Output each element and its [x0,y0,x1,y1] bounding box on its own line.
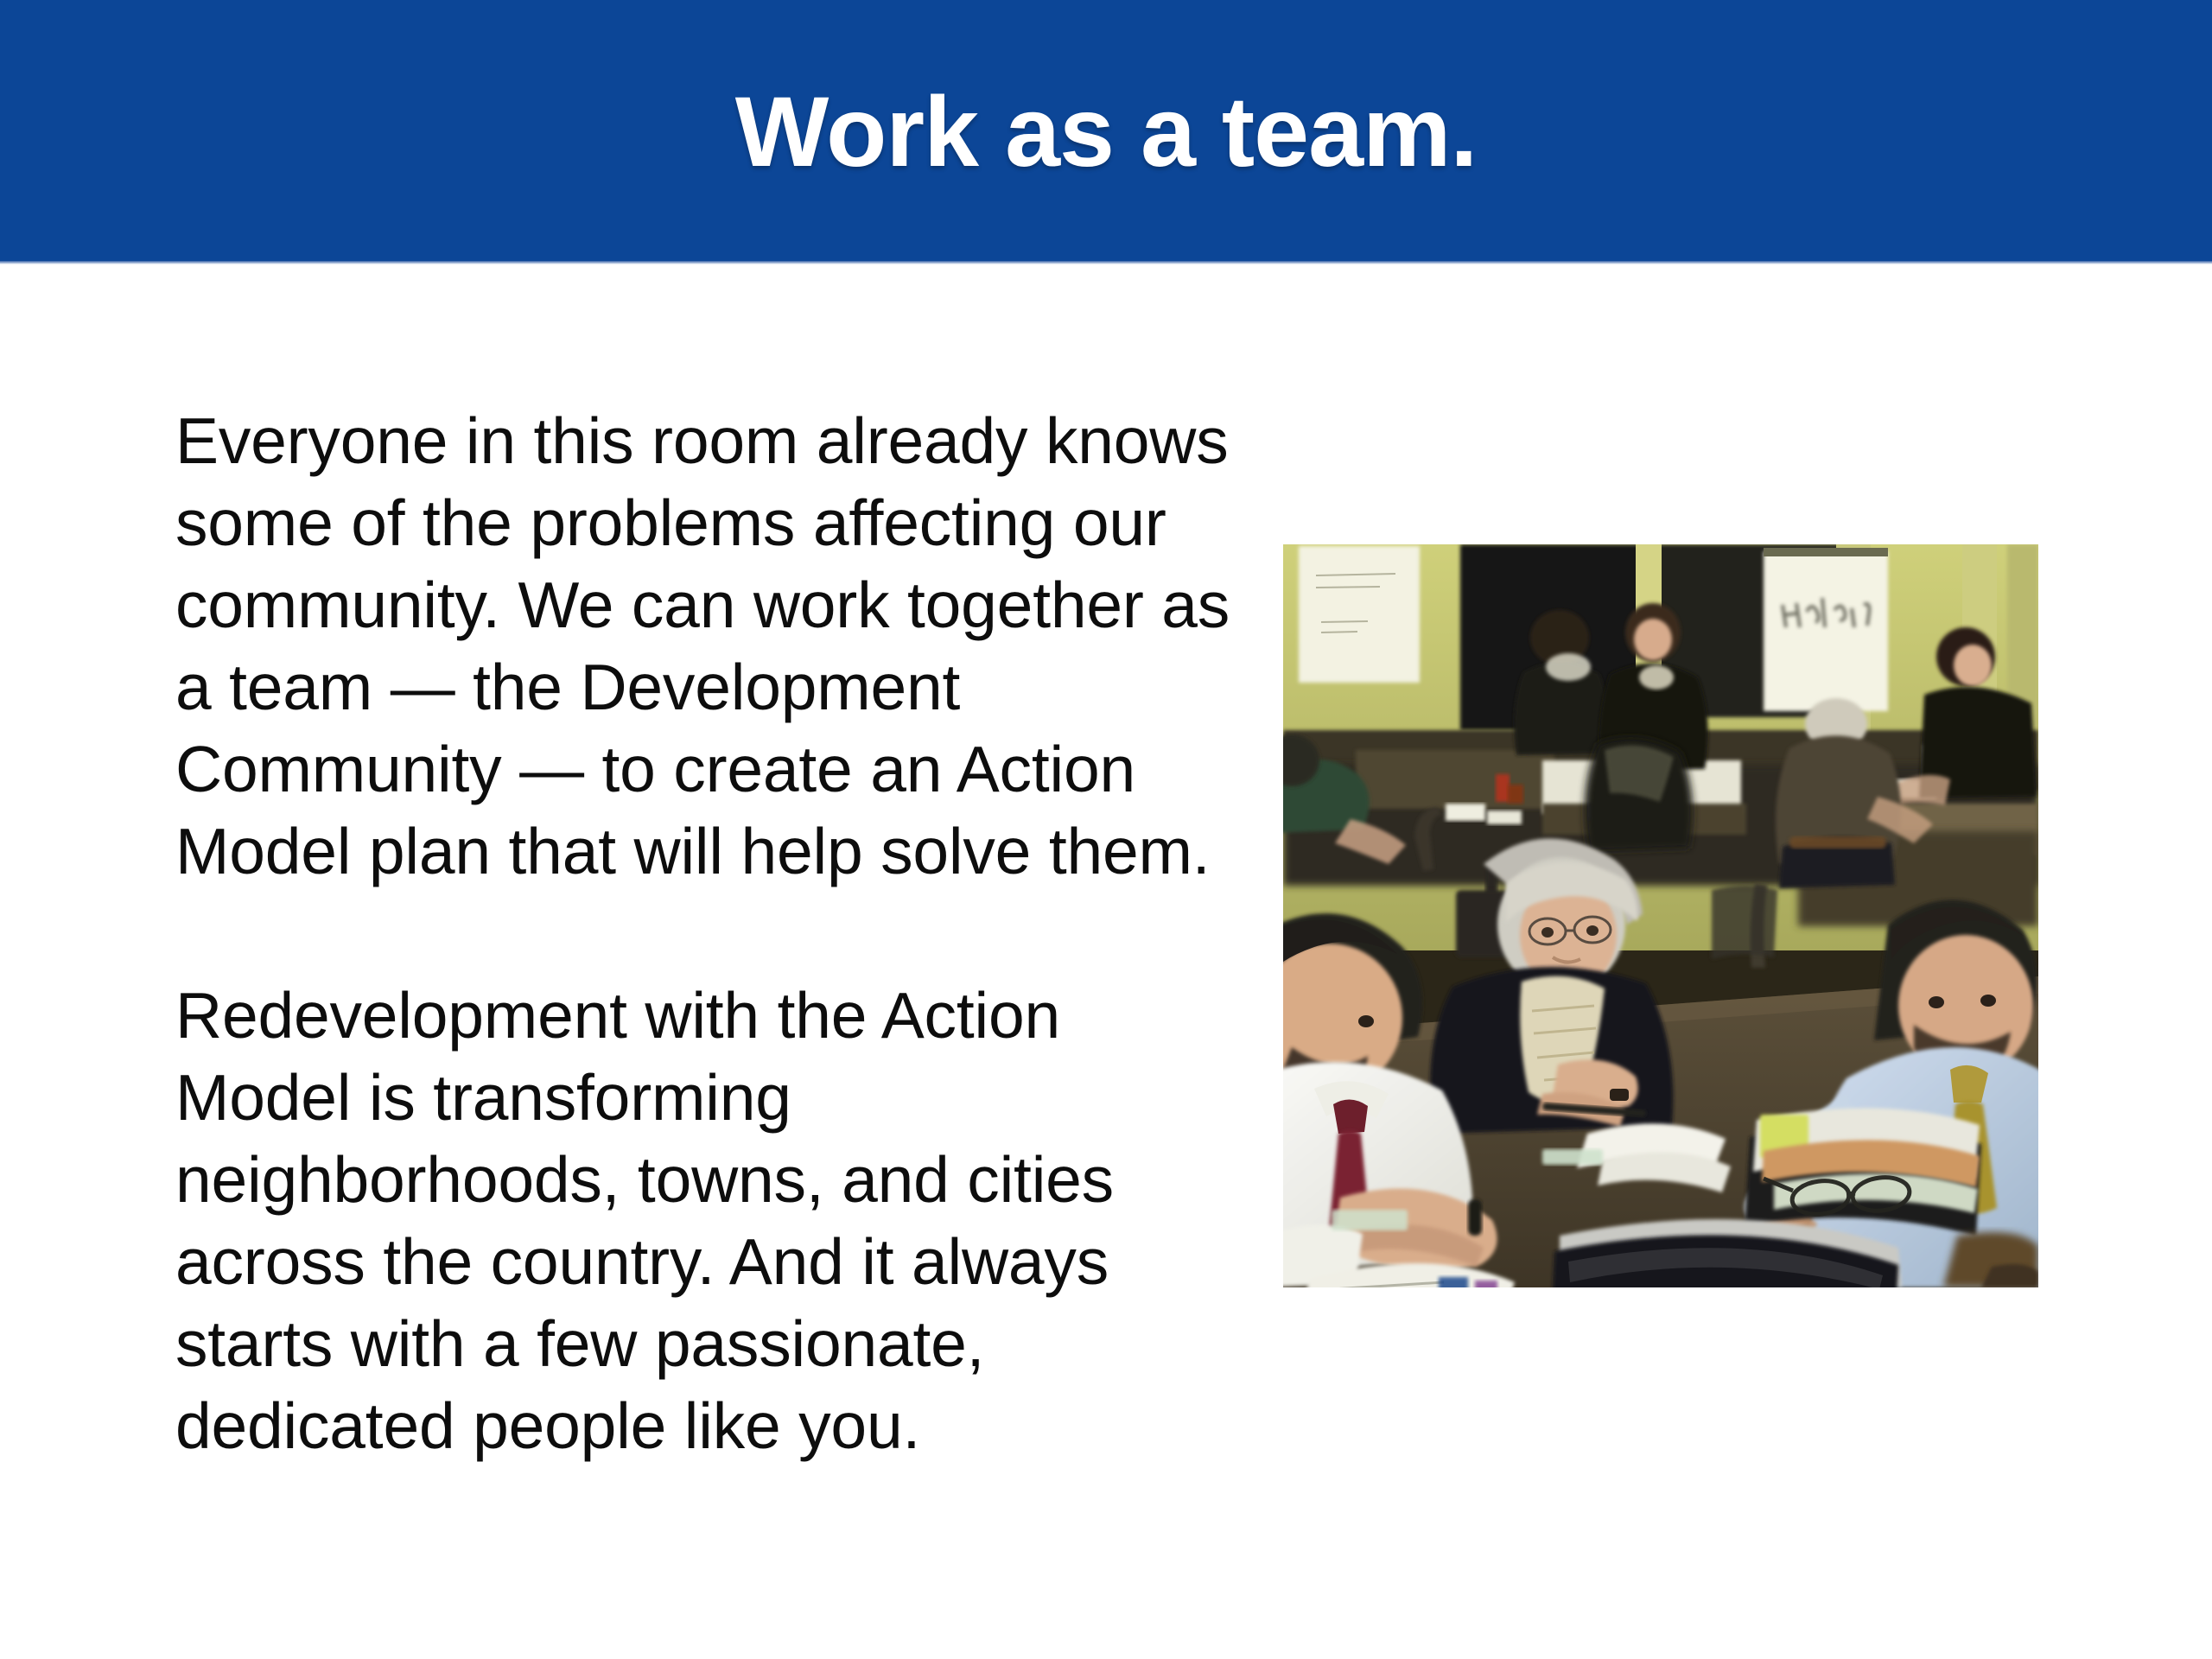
slide-body: Everyone in this room already knows some… [0,261,2212,1659]
slide-header-band: Work as a team. [0,0,2212,261]
page-title: Work as a team. [735,83,1478,182]
text-column: Everyone in this room already knows some… [175,400,1238,1467]
body-paragraph-2: Redevelopment with the Action Model is t… [175,975,1238,1467]
body-paragraph-1: Everyone in this room already knows some… [175,400,1238,893]
community-meeting-photo [1283,544,2038,1287]
